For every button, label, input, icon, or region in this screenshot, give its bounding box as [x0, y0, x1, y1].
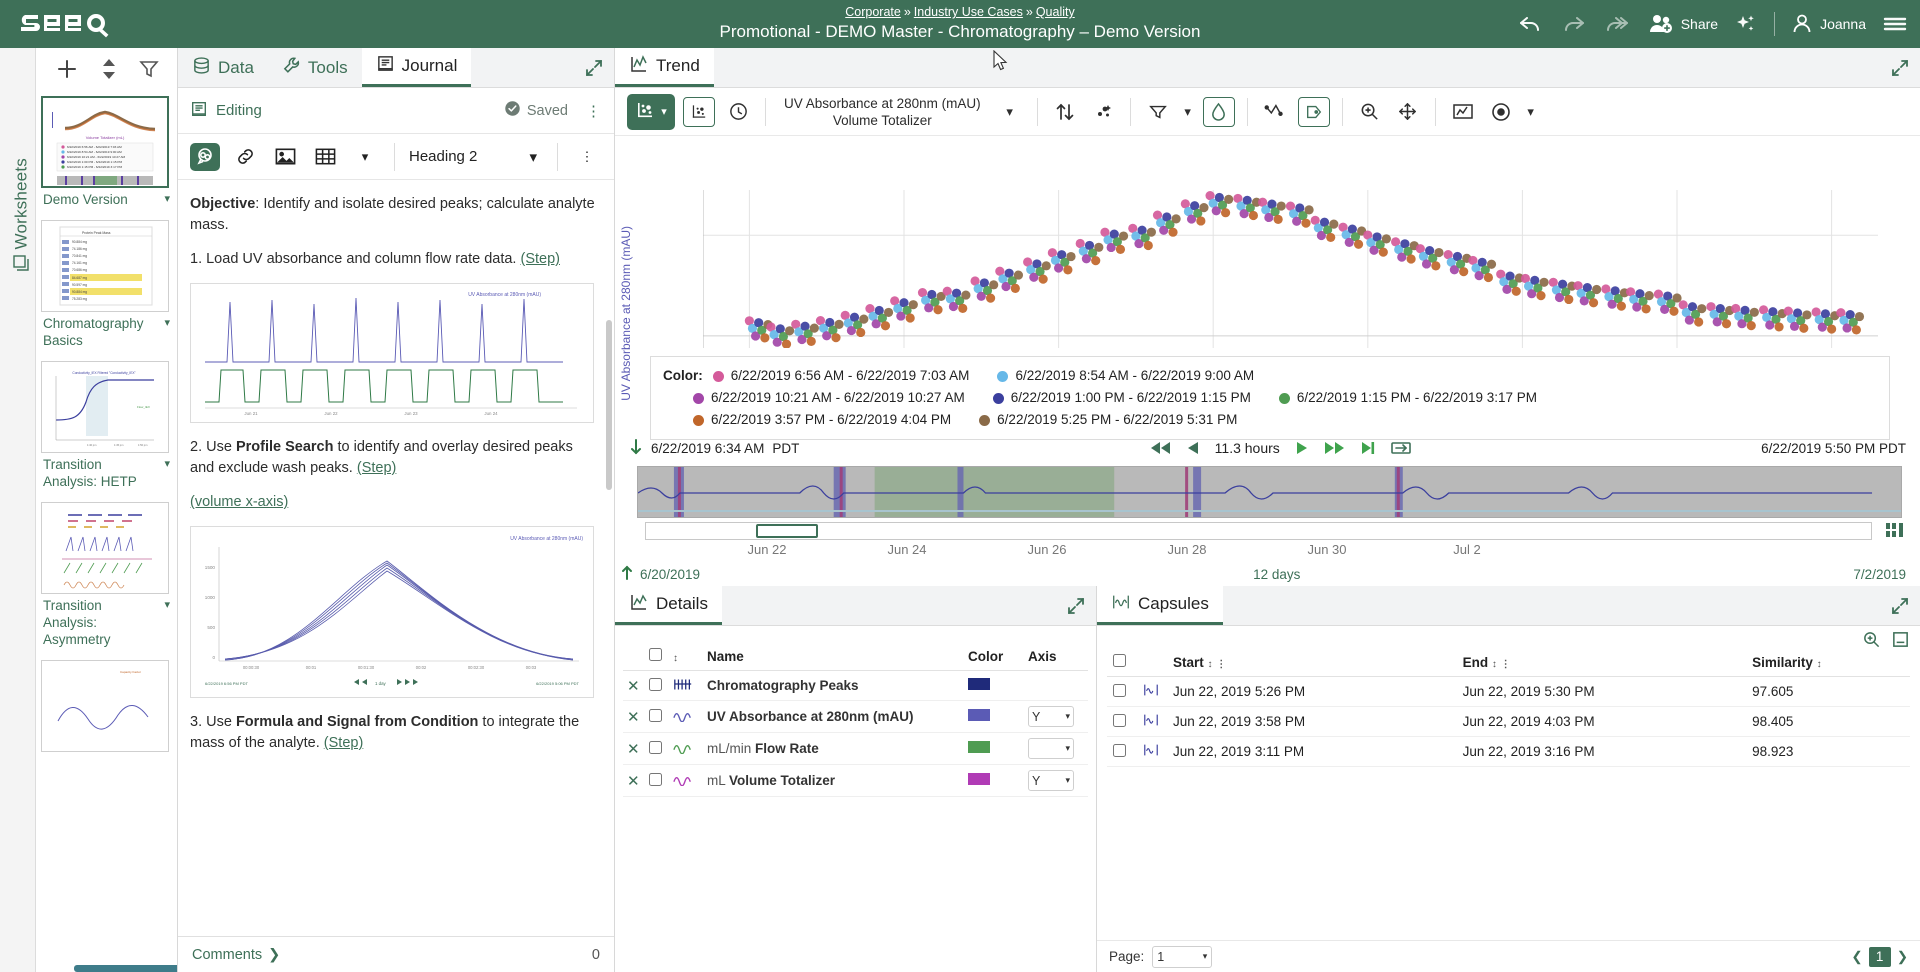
expand-icon[interactable]: [584, 58, 604, 81]
details-col-axis[interactable]: Axis: [1024, 642, 1088, 671]
share-label: Share: [1681, 16, 1718, 32]
axis-value: Y: [1032, 774, 1040, 788]
legend-color-swatch: [997, 371, 1008, 382]
chevron-down-icon[interactable]: ▾: [1203, 951, 1208, 962]
remove-item-icon[interactable]: ✕: [627, 709, 640, 726]
step2-volume-axis-link[interactable]: (volume x-axis): [190, 494, 288, 510]
remove-item-icon[interactable]: ✕: [627, 773, 640, 790]
display-range-start[interactable]: 6/22/2019 6:34 AM PDT: [629, 437, 799, 460]
legend-color-swatch: [993, 393, 1004, 404]
journal-tabstrip: Data Tools Journal: [178, 48, 614, 88]
svg-text:00:02: 00:02: [416, 665, 427, 670]
worksheet-toolbar: [36, 48, 177, 92]
capsules-tools: [1862, 630, 1910, 652]
svg-text:00:01: 00:01: [306, 665, 317, 670]
svg-text:1:40 pm: 1:40 pm: [87, 443, 96, 447]
label-button[interactable]: [1298, 97, 1330, 127]
color-swatch[interactable]: [968, 678, 990, 690]
filter-worksheets-icon[interactable]: [138, 58, 160, 83]
svg-text:00:03: 00:03: [526, 665, 537, 670]
svg-text:1:45 pm: 1:45 pm: [114, 443, 123, 447]
chevron-down-icon[interactable]: ▾: [661, 105, 667, 118]
remove-item-icon[interactable]: ✕: [627, 741, 640, 758]
color-swatch[interactable]: [968, 709, 990, 721]
svg-text:70.841 mg: 70.841 mg: [72, 254, 87, 258]
link-icon[interactable]: [230, 143, 260, 171]
capsule-start: Jun 22, 2019 3:11 PM: [1167, 737, 1457, 767]
step3-paragraph: 3. Use Formula and Signal from Condition…: [190, 712, 596, 754]
capsules-col-start[interactable]: Start ↕ ⋮: [1167, 648, 1457, 677]
zoom-in-icon[interactable]: [1862, 630, 1881, 652]
chevron-down-icon[interactable]: ▾: [1065, 775, 1070, 786]
table-row[interactable]: ✕ mL/min Flow Rate ▾: [623, 733, 1088, 765]
worksheet-item[interactable]: Conductivity_IEX Filtered "Conductivity_…: [36, 357, 177, 498]
tab-capsules-label: Capsules: [1138, 594, 1209, 614]
journal-figure-2[interactable]: UV Absorbance at 280nm (mAU) 15001000500…: [190, 526, 594, 698]
target-icon[interactable]: [1486, 97, 1516, 127]
add-worksheet-icon[interactable]: [54, 56, 80, 85]
legend-color-swatch: [979, 415, 990, 426]
investigate-range-end[interactable]: 7/2/2019: [1853, 567, 1906, 582]
row-checkbox[interactable]: [649, 678, 662, 691]
svg-text:Conductivity_IEX Filtered "Con: Conductivity_IEX Filtered "Conductivity_…: [72, 371, 135, 375]
book-icon: [376, 54, 395, 78]
details-item-name: Volume Totalizer: [729, 773, 835, 788]
step3-link[interactable]: (Step): [324, 735, 364, 751]
range-reset-icon[interactable]: [1884, 521, 1906, 542]
legend-row: 6/22/2019 10:21 AM - 6/22/2019 10:27 AM …: [663, 387, 1877, 409]
image-icon[interactable]: [270, 143, 300, 171]
loop-icon[interactable]: [1390, 439, 1412, 457]
legend-row: Color: 6/22/2019 6:56 AM - 6/22/2019 7:0…: [663, 365, 1877, 387]
legend-item-label: 6/22/2019 3:57 PM - 6/22/2019 4:04 PM: [711, 409, 951, 431]
sort-icon[interactable]: ↕: [1208, 659, 1213, 670]
hamburger-menu-icon[interactable]: [1882, 14, 1908, 34]
capsule-icon: [1111, 593, 1131, 616]
capsule-start: Jun 22, 2019 3:58 PM: [1167, 707, 1457, 737]
worksheet-item[interactable]: Volume Totalizer (mL) 6/22/2019 6:56 AM …: [36, 92, 177, 216]
expand-icon[interactable]: [1066, 596, 1086, 619]
range-handle[interactable]: [756, 524, 818, 538]
legend-item[interactable]: 6/22/2019 1:00 PM - 6/22/2019 1:15 PM: [993, 387, 1251, 409]
step2-link[interactable]: (Step): [357, 460, 397, 476]
worksheets-label: Worksheets: [11, 158, 31, 249]
svg-text:6/22/2019 1:00 PM - 6/22/2019: 6/22/2019 1:00 PM - 6/22/2019 1:15 PM: [67, 160, 122, 164]
journal-editor-toolbar: ▾ Heading 2 ▾ ⋮: [178, 134, 614, 180]
divider: [765, 98, 766, 126]
xy-plot-button[interactable]: [683, 97, 715, 127]
breadcrumb-item-quality[interactable]: Quality: [1036, 5, 1075, 19]
worksheets-rail-label: Worksheets: [10, 145, 33, 275]
legend-item[interactable]: 6/22/2019 10:21 AM - 6/22/2019 10:27 AM: [693, 387, 965, 409]
chevron-down-icon[interactable]: ▾: [164, 191, 170, 208]
column-menu-icon[interactable]: ⋮: [1501, 659, 1511, 670]
objective-label: Objective: [190, 196, 255, 212]
step1-paragraph: 1. Load UV absorbance and column flow ra…: [190, 249, 596, 270]
svg-text:Flow_IEX: Flow_IEX: [137, 405, 150, 409]
time-controls: 6/22/2019 6:34 AM PDT 11.3 hours: [615, 430, 1920, 466]
color-swatch[interactable]: [968, 741, 990, 753]
row-checkbox[interactable]: [1113, 684, 1126, 697]
details-col-color[interactable]: Color: [964, 642, 1024, 671]
legend-item-label: 6/22/2019 10:21 AM - 6/22/2019 10:27 AM: [711, 387, 965, 409]
select-all-checkbox[interactable]: [649, 648, 662, 661]
chart-plot-area[interactable]: 01k05101520253035: [703, 190, 1882, 348]
seeq-logo[interactable]: [18, 4, 138, 44]
worksheet-thumbnail[interactable]: Capacity Factor: [41, 660, 169, 752]
range-scrollbar[interactable]: [645, 522, 1872, 540]
saved-label: Saved: [527, 103, 568, 119]
top-navigation-bar: Corporate»Industry Use Cases»Quality Pro…: [0, 0, 1920, 48]
target-chevron-down-icon[interactable]: ▾: [1524, 97, 1538, 127]
divider: [1247, 98, 1248, 126]
redo-icon[interactable]: [1560, 13, 1586, 35]
legend-title: Color:: [663, 365, 703, 387]
svg-text:1 day: 1 day: [375, 681, 387, 686]
tab-journal-label: Journal: [402, 56, 458, 76]
down-arrow-icon: [629, 437, 643, 460]
worksheet-item[interactable]: Protein Peak Mass 90.884 mg74.186 mg 70.…: [36, 216, 177, 357]
legend-item-label: 6/22/2019 6:56 AM - 6/22/2019 7:03 AM: [731, 365, 970, 387]
expand-icon[interactable]: [1890, 596, 1910, 619]
capsule-end: Jun 22, 2019 4:03 PM: [1457, 707, 1747, 737]
investigate-range-row: 6/20/2019 12 days 7/2/2019: [620, 562, 1906, 586]
range-tick: Jun 30: [1307, 542, 1346, 557]
tab-capsules[interactable]: Capsules: [1097, 586, 1223, 625]
worksheet-name-row[interactable]: Transition Analysis: Asymmetry ▾: [41, 594, 172, 656]
details-item-name: Flow Rate: [755, 741, 819, 756]
chevron-down-icon[interactable]: ▾: [350, 143, 380, 171]
range-tick: Jun 26: [1027, 542, 1066, 557]
svg-text:6/22/2019 1:15 PM - 6/22/2019: 6/22/2019 1:15 PM - 6/22/2019 3:17 PM: [67, 165, 122, 169]
capsule-icon: [1143, 685, 1159, 700]
axis-select[interactable]: Y▾: [1028, 770, 1074, 791]
step3-prefix: 3. Use: [190, 714, 236, 730]
worksheet-thumbnail[interactable]: Protein Peak Mass 90.884 mg74.186 mg 70.…: [41, 220, 169, 312]
legend-color-swatch: [1279, 393, 1290, 404]
step1-link[interactable]: (Step): [520, 251, 560, 267]
svg-text:Jun 22: Jun 22: [324, 411, 338, 416]
journal-panel: Data Tools Journal: [178, 48, 615, 972]
editing-status: Editing: [190, 100, 262, 122]
investigate-range-start[interactable]: 6/20/2019: [640, 567, 700, 582]
heading-select[interactable]: Heading 2 ▾: [409, 148, 543, 166]
divider: [557, 143, 558, 171]
capsules-header-row: Start ↕ ⋮ End ↕ ⋮ Similarity ↕: [1107, 648, 1910, 677]
svg-text:00:01:30: 00:01:30: [358, 665, 375, 670]
svg-text:Jun 21: Jun 21: [244, 411, 258, 416]
step3-bold: Formula and Signal from Condition: [236, 714, 478, 730]
step2-bold: Profile Search: [236, 439, 334, 455]
saved-status: Saved ⋮: [504, 100, 602, 121]
svg-text:500: 500: [207, 625, 215, 630]
worksheet-name: Transition Analysis: Asymmetry: [43, 597, 143, 648]
capsule-icon: [1143, 715, 1159, 730]
user-label: Joanna: [1820, 16, 1866, 32]
table-row[interactable]: Jun 22, 2019 5:26 PM Jun 22, 2019 5:30 P…: [1107, 677, 1910, 707]
sparkle-icon[interactable]: [1734, 13, 1758, 35]
display-duration: 11.3 hours: [1215, 440, 1280, 456]
breadcrumb-separator: »: [904, 5, 911, 20]
worksheet-name-row[interactable]: Demo Version ▾: [41, 188, 172, 216]
journal-scrollbar[interactable]: [606, 320, 612, 490]
skip-forward-icon[interactable]: [1360, 440, 1376, 456]
play-icon[interactable]: [1294, 440, 1310, 456]
svg-text:Protein Peak Mass: Protein Peak Mass: [82, 231, 111, 235]
skip-back-icon[interactable]: [1149, 440, 1171, 456]
row-checkbox[interactable]: [1113, 744, 1126, 757]
signal-chevron-down-icon[interactable]: ▾: [995, 97, 1025, 127]
redo-all-icon[interactable]: [1602, 13, 1632, 35]
chevron-right-icon[interactable]: ❯: [1897, 949, 1908, 965]
trend-toolbar: ▾ UV Absorbance at 280nm (mAU) Volume To…: [615, 88, 1920, 136]
capsule-similarity: 98.405: [1746, 707, 1910, 737]
table-row[interactable]: Jun 22, 2019 3:11 PM Jun 22, 2019 3:16 P…: [1107, 737, 1910, 767]
svg-text:Volume Totalizer (mL): Volume Totalizer (mL): [86, 135, 125, 140]
chevron-down-icon[interactable]: ▾: [164, 315, 170, 332]
table-row[interactable]: Jun 22, 2019 3:58 PM Jun 22, 2019 4:03 P…: [1107, 707, 1910, 737]
fast-forward-icon[interactable]: [1324, 440, 1346, 456]
tab-details[interactable]: Details: [615, 586, 722, 625]
svg-text:1:50 pm: 1:50 pm: [138, 443, 147, 447]
legend-item-label: 6/22/2019 5:25 PM - 6/22/2019 5:31 PM: [997, 409, 1237, 431]
range-tick: Jul 2: [1453, 542, 1480, 557]
more-options-icon[interactable]: ⋮: [572, 143, 602, 171]
capsule-end: Jun 22, 2019 3:16 PM: [1457, 737, 1747, 767]
chevron-down-icon[interactable]: ▾: [529, 148, 537, 166]
page-value: 1: [1157, 950, 1164, 964]
svg-text:UV Absorbance at 280nm (mAU): UV Absorbance at 280nm (mAU): [510, 536, 583, 542]
signal-line-2: Volume Totalizer: [833, 112, 932, 129]
breadcrumb-item-corporate[interactable]: Corporate: [845, 5, 901, 19]
tab-trend[interactable]: Trend: [615, 48, 714, 87]
chevron-left-icon[interactable]: ❮: [1851, 949, 1862, 965]
remove-item-icon[interactable]: ✕: [627, 678, 640, 695]
svg-text:Capacity Factor: Capacity Factor: [120, 670, 141, 674]
chart-legend: Color: 6/22/2019 6:56 AM - 6/22/2019 7:0…: [650, 356, 1890, 440]
legend-item-label: 6/22/2019 1:00 PM - 6/22/2019 1:15 PM: [1011, 387, 1251, 409]
worksheet-thumbnail[interactable]: [41, 502, 169, 594]
capsule-similarity: 98.923: [1746, 737, 1910, 767]
sort-arrows-icon[interactable]: [1050, 97, 1080, 127]
trend-icon: [629, 54, 649, 79]
share-button[interactable]: Share: [1648, 13, 1718, 35]
sort-icon[interactable]: ↕: [673, 653, 678, 664]
tab-tools-label: Tools: [308, 58, 348, 78]
svg-text:70.686 mg: 70.686 mg: [72, 268, 87, 272]
workbook-title: Promotional - DEMO Master - Chromatograp…: [720, 21, 1201, 43]
sort-icon[interactable]: ↕: [1817, 659, 1822, 670]
details-tabstrip: Details: [615, 586, 1096, 626]
journal-figure-1[interactable]: UV Absorbance at 280nm (mAU) Jun 21Jun 2…: [190, 283, 594, 423]
sort-icon[interactable]: ↕: [1492, 659, 1497, 670]
worksheets-rail[interactable]: Worksheets: [0, 48, 36, 972]
svg-text:00:02:30: 00:02:30: [468, 665, 485, 670]
step-back-icon[interactable]: [1185, 440, 1201, 456]
capsules-panel: Capsules: [1097, 586, 1920, 972]
filter-chevron-down-icon[interactable]: ▾: [1181, 97, 1195, 127]
details-col-name[interactable]: Name: [703, 642, 964, 671]
legend-item[interactable]: 6/22/2019 5:25 PM - 6/22/2019 5:31 PM: [979, 409, 1237, 431]
filter-icon[interactable]: [1143, 97, 1173, 127]
signal-line-1: UV Absorbance at 280nm (mAU): [784, 95, 981, 112]
worksheet-name: Chromatography Basics: [43, 315, 143, 349]
divider: [1037, 98, 1038, 126]
chevron-down-icon[interactable]: ▾: [1065, 743, 1070, 754]
undo-icon[interactable]: [1518, 13, 1544, 35]
kebab-menu-icon[interactable]: ⋮: [586, 102, 602, 120]
chevron-down-icon[interactable]: ▾: [164, 597, 170, 614]
breadcrumb: Corporate»Industry Use Cases»Quality: [845, 5, 1074, 20]
worksheet-item[interactable]: Transition Analysis: Asymmetry ▾: [36, 498, 177, 656]
view-mode-button[interactable]: ▾: [627, 94, 675, 130]
svg-text:6/22/2019 10:21 AM - 6/22/2019: 6/22/2019 10:21 AM - 6/22/2019 10:27 AM: [67, 155, 126, 159]
legend-item[interactable]: 6/22/2019 8:54 AM - 6/22/2019 9:00 AM: [997, 365, 1254, 387]
worksheet-name-row[interactable]: Chromatography Basics ▾: [41, 312, 172, 357]
context-strip[interactable]: [637, 466, 1902, 518]
range-tick: Jun 24: [887, 542, 926, 557]
details-item-name: Chromatography Peaks: [707, 678, 859, 693]
svg-text:74.161 mg: 74.161 mg: [72, 261, 87, 265]
svg-text:84.687 mg: 84.687 mg: [72, 276, 87, 280]
playback-controls: 11.3 hours: [1149, 439, 1412, 457]
droplet-button[interactable]: [1203, 97, 1235, 127]
breadcrumb-item-industry-use-cases[interactable]: Industry Use Cases: [914, 5, 1023, 19]
journal-footer: Comments ❯ 0: [178, 936, 614, 972]
user-menu-button[interactable]: Joanna: [1791, 13, 1866, 35]
chevron-down-icon[interactable]: ▾: [1065, 711, 1070, 722]
chart-icon[interactable]: [1448, 97, 1478, 127]
pan-icon[interactable]: [1393, 97, 1423, 127]
step2-paragraph: 2. Use Profile Search to identify and ov…: [190, 437, 596, 479]
collapse-icon[interactable]: [1891, 630, 1910, 652]
table-row[interactable]: ✕ UV Absorbance at 280nm (mAU) Y▾: [623, 701, 1088, 733]
worksheet-thumbnail[interactable]: Conductivity_IEX Filtered "Conductivity_…: [41, 361, 169, 453]
axis-value: Y: [1032, 710, 1040, 724]
chevron-down-icon[interactable]: ▾: [164, 456, 170, 473]
top-right-actions: Share Joanna: [1518, 0, 1908, 48]
range-end-timezone: PDT: [1879, 441, 1906, 456]
step2-link2-paragraph: (volume x-axis): [190, 492, 596, 513]
page-select[interactable]: 1 ▾: [1152, 946, 1212, 968]
svg-text:6/22/2019 6:56 PM PDT: 6/22/2019 6:56 PM PDT: [205, 681, 248, 686]
legend-item[interactable]: 6/22/2019 6:56 AM - 6/22/2019 7:03 AM: [713, 365, 970, 387]
tab-details-label: Details: [656, 594, 708, 614]
table-icon[interactable]: [310, 143, 340, 171]
select-all-capsules-checkbox[interactable]: [1113, 654, 1126, 667]
wrench-icon: [282, 56, 301, 80]
comments-label[interactable]: Comments: [192, 947, 262, 963]
worksheet-item[interactable]: Capacity Factor: [36, 656, 177, 752]
tab-trend-label: Trend: [656, 56, 700, 76]
signal-icon: [673, 710, 693, 725]
page-label: Page:: [1109, 949, 1144, 964]
dimming-icon[interactable]: [1088, 97, 1118, 127]
expand-icon[interactable]: [1890, 58, 1910, 81]
investigate-range-duration: 12 days: [1253, 567, 1300, 582]
signal-selector[interactable]: UV Absorbance at 280nm (mAU) Volume Tota…: [784, 95, 981, 129]
capsule-icon: [673, 680, 693, 695]
worksheet-name: Demo Version: [43, 191, 128, 208]
worksheet-list-scrollbar[interactable]: [74, 965, 178, 972]
journal-content[interactable]: Objective: Identify and isolate desired …: [178, 180, 614, 936]
comments-count: 0: [592, 947, 600, 963]
table-row[interactable]: ✕ Chromatography Peaks: [623, 671, 1088, 701]
tab-data[interactable]: Data: [178, 48, 268, 87]
legend-item[interactable]: 6/22/2019 3:57 PM - 6/22/2019 4:04 PM: [693, 409, 951, 431]
divider: [1342, 98, 1343, 126]
divider: [1435, 98, 1436, 126]
row-checkbox[interactable]: [649, 773, 662, 786]
svg-text:90.597 mg: 90.597 mg: [72, 283, 87, 287]
table-row[interactable]: ✕ mL Volume Totalizer Y▾: [623, 765, 1088, 797]
seeq-annotate-icon[interactable]: [190, 143, 220, 171]
page-current[interactable]: 1: [1869, 947, 1891, 967]
tab-journal[interactable]: Journal: [362, 48, 472, 87]
row-checkbox[interactable]: [649, 741, 662, 754]
range-tick: Jun 22: [747, 542, 786, 557]
range-start-label: 6/22/2019 6:34 AM: [651, 441, 764, 456]
range-start-timezone: PDT: [772, 441, 799, 456]
breadcrumb-separator: »: [1026, 5, 1033, 20]
worksheet-thumbnail[interactable]: Volume Totalizer (mL) 6/22/2019 6:56 AM …: [41, 96, 169, 188]
capsules-col-similarity[interactable]: Similarity ↕: [1746, 648, 1910, 677]
scatter-chart[interactable]: UV Absorbance at 280nm (mAU) 01k05101520…: [615, 184, 1920, 384]
lasso-icon[interactable]: [1260, 97, 1290, 127]
zoom-in-icon[interactable]: [1355, 97, 1385, 127]
divider: [394, 143, 395, 171]
svg-text:90.884 mg: 90.884 mg: [72, 240, 87, 244]
svg-text:0: 0: [212, 655, 215, 660]
details-icon: [629, 592, 649, 617]
svg-text:74.186 mg: 74.186 mg: [72, 247, 87, 251]
axis-select[interactable]: Y▾: [1028, 706, 1074, 727]
sort-worksheets-icon[interactable]: [99, 57, 119, 84]
capsules-table: Start ↕ ⋮ End ↕ ⋮ Similarity ↕ Jun 22, 2…: [1107, 648, 1910, 767]
capsules-col-end-label: End: [1463, 655, 1489, 670]
capsule-end: Jun 22, 2019 5:30 PM: [1457, 677, 1747, 707]
display-range-end[interactable]: 6/22/2019 5:50 PM PDT: [1761, 441, 1906, 456]
column-menu-icon[interactable]: ⋮: [1216, 659, 1226, 670]
book-icon: [190, 100, 208, 122]
up-arrow-icon[interactable]: [620, 564, 634, 585]
capsules-col-end[interactable]: End ↕ ⋮: [1457, 648, 1747, 677]
legend-color-swatch: [713, 371, 724, 382]
capsule-similarity: 97.605: [1746, 677, 1910, 707]
row-checkbox[interactable]: [1113, 714, 1126, 727]
range-axis-ticks: Jun 22 Jun 24 Jun 26 Jun 28 Jun 30 Jul 2: [637, 542, 1902, 562]
range-tick: Jun 28: [1167, 542, 1206, 557]
details-table: ↕ Name Color Axis ✕ Chromatography Peaks: [623, 642, 1088, 797]
scatter-plot-icon: [635, 100, 657, 123]
svg-text:UV Absorbance at 280nm (mAU): UV Absorbance at 280nm (mAU): [468, 292, 541, 298]
signal-icon: [673, 774, 693, 789]
chevron-right-icon[interactable]: ❯: [268, 947, 280, 963]
capsules-col-similarity-label: Similarity: [1752, 655, 1813, 670]
color-swatch[interactable]: [968, 773, 990, 785]
details-item-name: UV Absorbance at 280nm (mAU): [707, 709, 914, 724]
row-checkbox[interactable]: [649, 709, 662, 722]
tab-tools[interactable]: Tools: [268, 48, 362, 87]
details-item-unit: mL/min: [707, 741, 751, 756]
worksheet-name-row[interactable]: Transition Analysis: HETP ▾: [41, 453, 172, 498]
legend-item[interactable]: 6/22/2019 1:15 PM - 6/22/2019 3:17 PM: [1279, 387, 1537, 409]
database-icon: [192, 56, 211, 80]
legend-row: 6/22/2019 3:57 PM - 6/22/2019 4:04 PM 6/…: [663, 409, 1877, 431]
capsule-icon: [1143, 745, 1159, 760]
clock-icon[interactable]: [723, 97, 753, 127]
axis-select[interactable]: ▾: [1028, 738, 1074, 759]
